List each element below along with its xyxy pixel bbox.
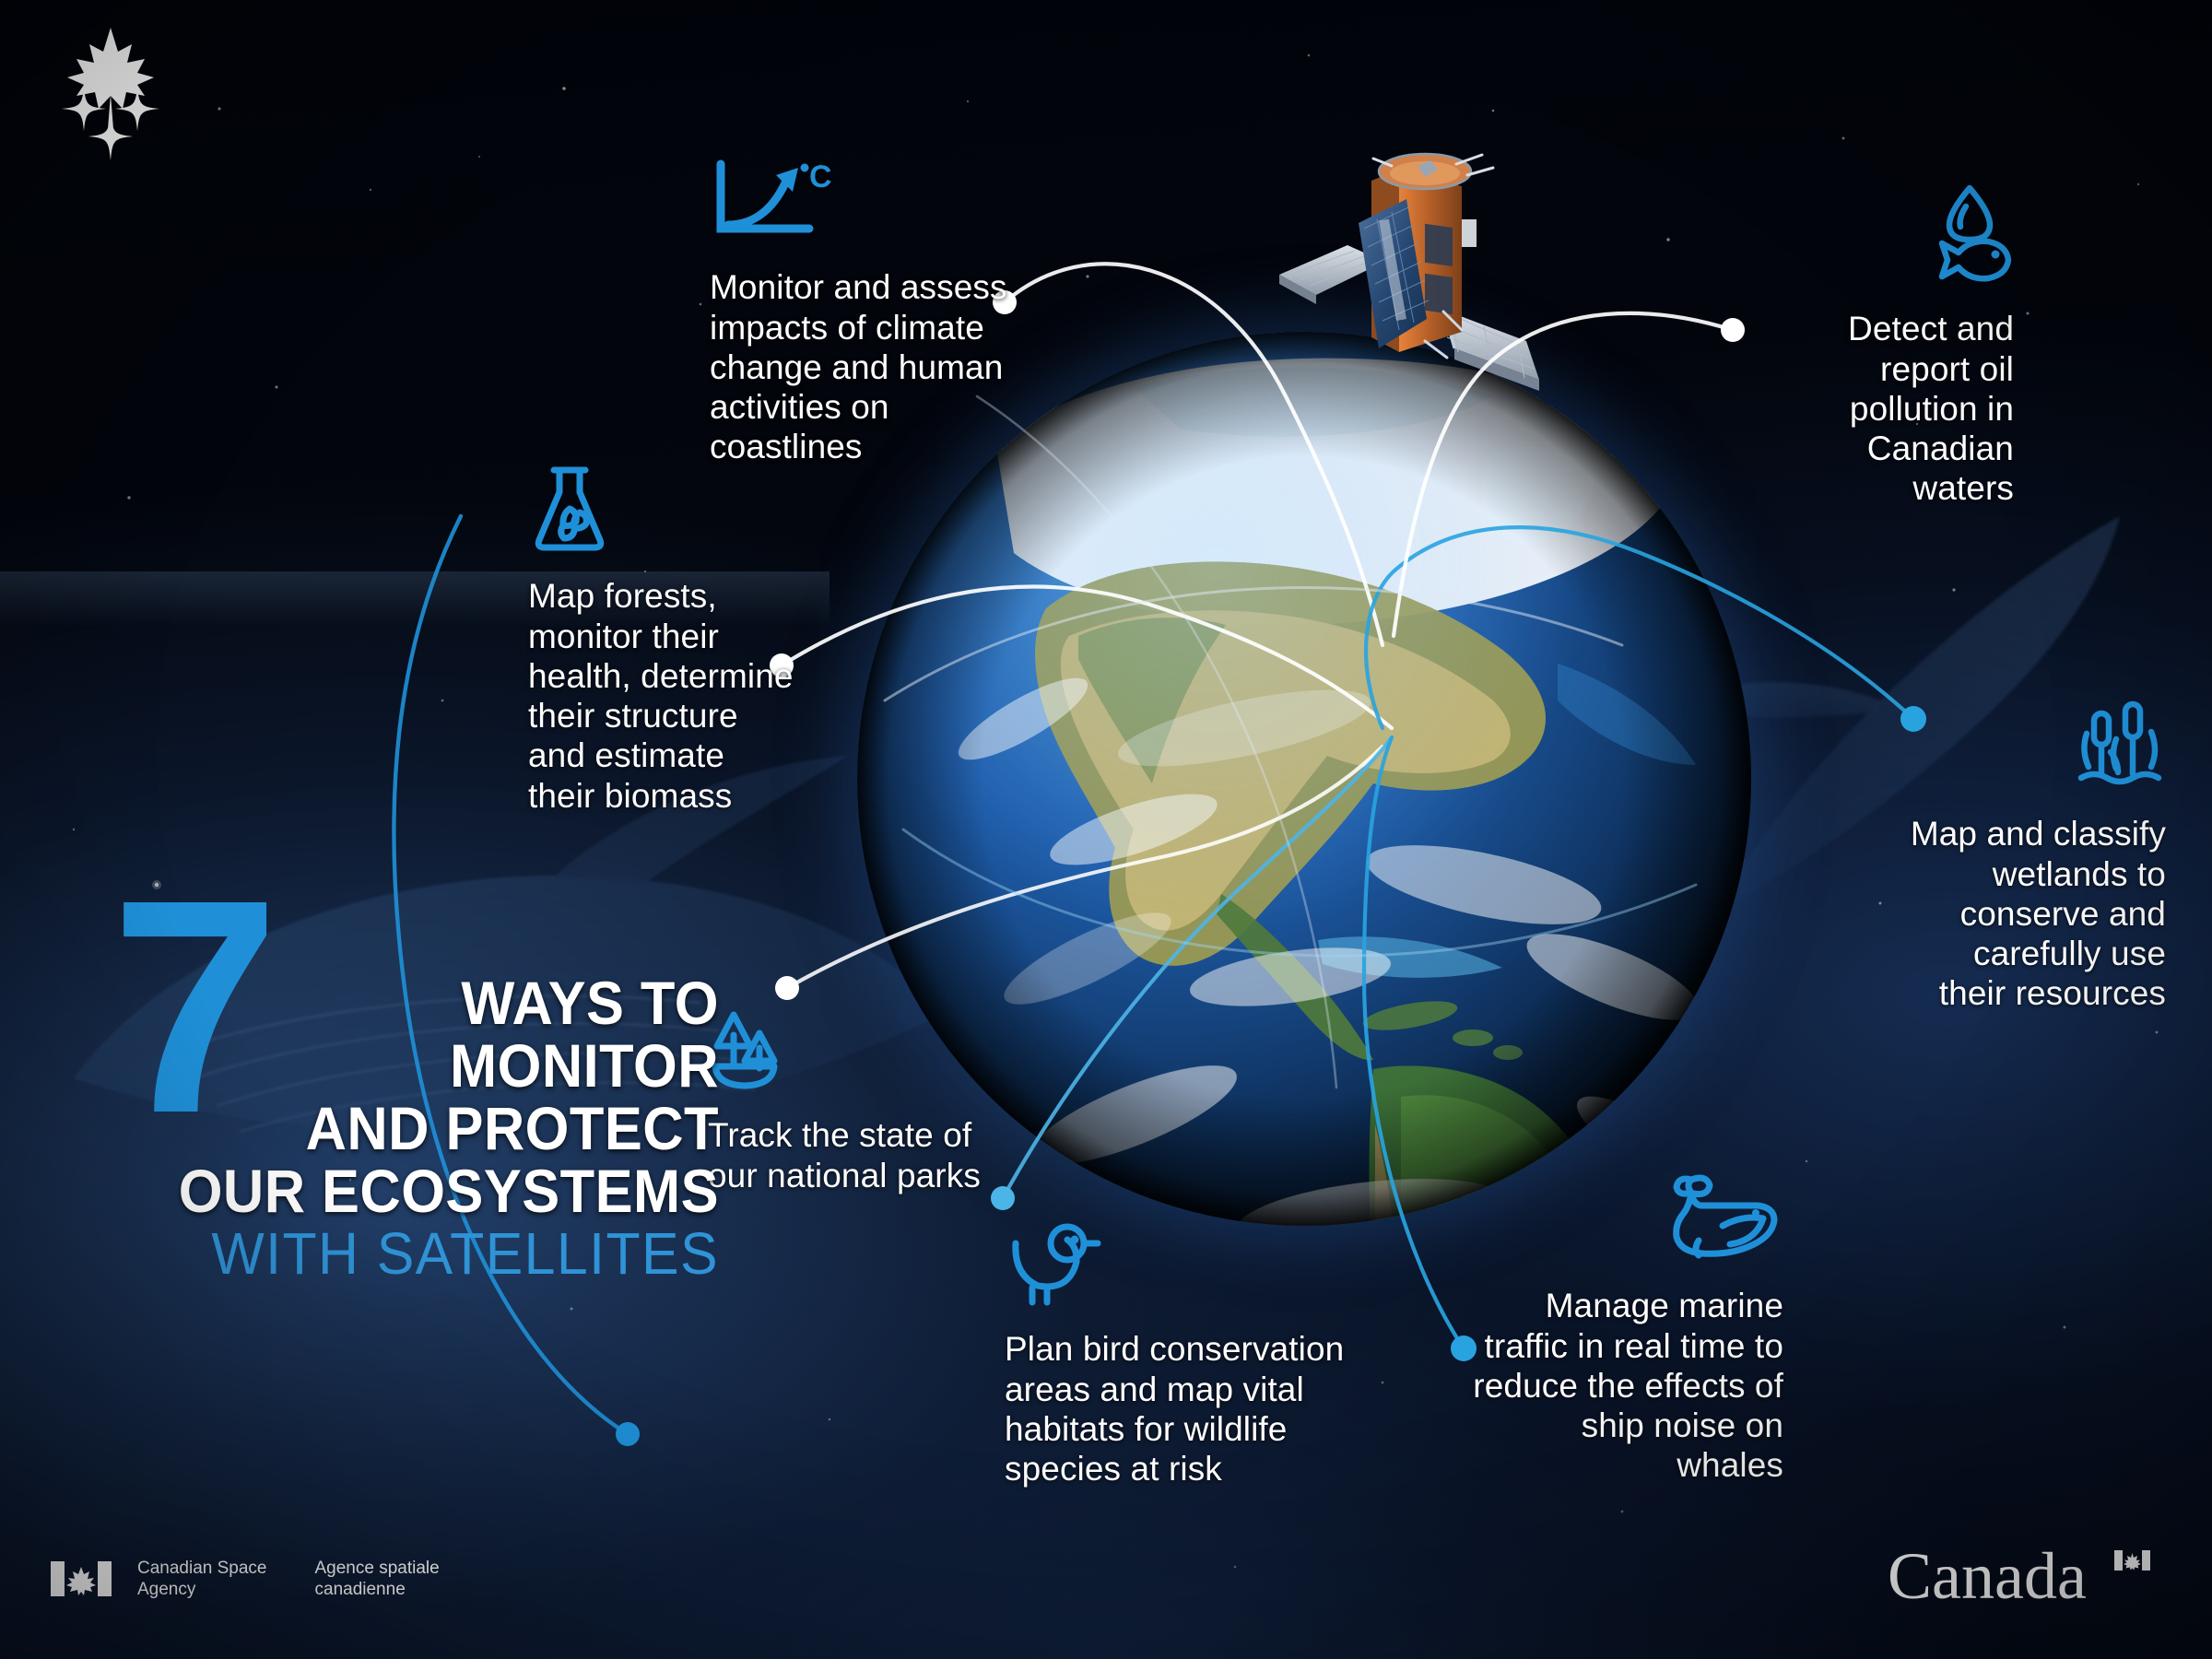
cattails-wetland-icon <box>1899 700 2166 799</box>
item-climate: C Monitor and assess impacts of climate … <box>710 157 1014 467</box>
flask-with-leaves-icon <box>528 461 795 561</box>
item-wetlands: Map and classify wetlands to conserve an… <box>1899 700 2166 1014</box>
whale-icon <box>1465 1171 1783 1271</box>
agency-name-en-line1: Canadian Space <box>137 1558 267 1579</box>
item-oil-pollution-text: Detect and report oil pollution in Canad… <box>1848 310 2014 507</box>
title-line-3: AND PROTECT <box>153 1098 719 1160</box>
item-oil-pollution: Detect and report oil pollution in Canad… <box>1765 184 2014 509</box>
title-line-2: MONITOR <box>153 1035 719 1098</box>
agency-name-en: Canadian Space Agency <box>137 1558 267 1600</box>
title-subtitle: WITH SATELLITES <box>141 1223 719 1285</box>
radarsat-satellite <box>1263 138 1567 442</box>
agency-name-fr-line2: canadienne <box>315 1579 440 1600</box>
item-forests-text: Map forests, monitor their health, deter… <box>528 577 794 814</box>
bird-icon <box>1005 1221 1401 1314</box>
item-wetlands-text: Map and classify wetlands to conserve an… <box>1911 815 2166 1012</box>
canada-wordmark-flag <box>2114 1550 2150 1571</box>
item-marine-traffic: Manage marine traffic in real time to re… <box>1465 1171 1783 1486</box>
infographic-canvas: C Monitor and assess impacts of climate … <box>0 0 2212 1659</box>
item-birds-text: Plan bird conservation areas and map vit… <box>1005 1330 1344 1488</box>
item-birds: Plan bird conservation areas and map vit… <box>1005 1221 1401 1488</box>
agency-name-fr-line1: Agence spatiale <box>315 1558 440 1579</box>
canada-wordmark: Canada <box>1888 1545 2164 1611</box>
item-climate-text: Monitor and assess impacts of climate ch… <box>710 268 1007 465</box>
footer-agency-signature: Canadian Space Agency Agence spatiale ca… <box>51 1558 440 1600</box>
item-parks: Track the state of our national parks <box>708 1009 984 1195</box>
agency-name-fr: Agence spatiale canadienne <box>315 1558 440 1600</box>
title-line-4: OUR ECOSYSTEMS <box>153 1160 719 1223</box>
canada-wordmark-text: Canada <box>1888 1545 2087 1611</box>
page-title: 7 WAYS TO MONITOR AND PROTECT OUR ECOSYS… <box>111 899 719 1323</box>
oil-droplet-and-fish-icon <box>1765 184 2014 294</box>
item-marine-traffic-text: Manage marine traffic in real time to re… <box>1473 1287 1783 1484</box>
title-line-1: WAYS TO <box>153 972 719 1035</box>
agency-name-en-line2: Agency <box>137 1579 267 1600</box>
conifer-trees-icon <box>708 1009 984 1100</box>
item-parks-text: Track the state of our national parks <box>708 1116 981 1194</box>
temperature-rising-graph-icon: C <box>710 157 1014 253</box>
item-forests: Map forests, monitor their health, deter… <box>528 461 795 816</box>
canada-flag <box>51 1561 112 1596</box>
csa-logo <box>41 20 180 168</box>
svg-text:C: C <box>809 159 832 194</box>
